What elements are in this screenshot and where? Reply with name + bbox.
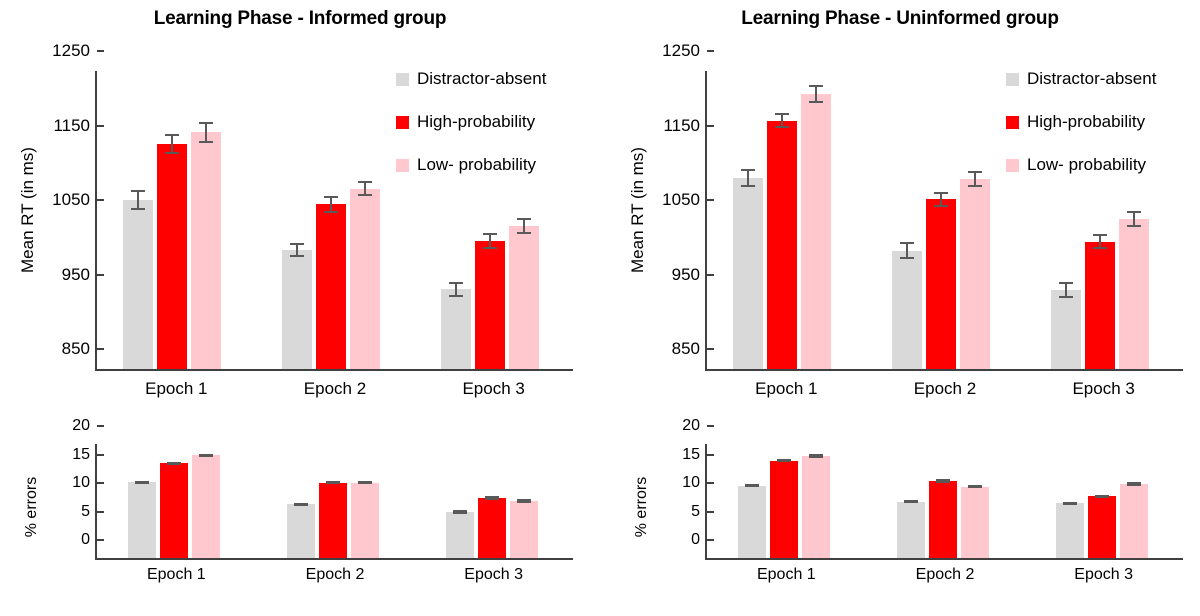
error-bar-uninformed_rt-0-2 bbox=[801, 85, 831, 103]
error-bar-cap-bottom bbox=[1095, 496, 1109, 498]
legend-swatch-icon bbox=[1006, 116, 1019, 129]
error-bar-informed_err-2-2 bbox=[510, 499, 538, 502]
bar-informed_rt-2-1 bbox=[475, 241, 505, 369]
x-tick-label-informed_err-1: Epoch 2 bbox=[306, 558, 365, 584]
error-bar-cap-bottom bbox=[900, 257, 914, 259]
y-tick-label: 1250 bbox=[662, 41, 707, 61]
y-tick-uninformed_rt-4: 1250 bbox=[662, 41, 707, 61]
error-bar-cap-top bbox=[517, 218, 531, 220]
legend-label: High-probability bbox=[1027, 112, 1145, 132]
error-bar-cap-bottom bbox=[358, 194, 372, 196]
y-tick-mark bbox=[97, 348, 104, 350]
error-bar-uninformed_err-2-2 bbox=[1120, 482, 1148, 485]
plot-area-informed-errors: 05101520Epoch 1Epoch 2Epoch 3 bbox=[95, 444, 573, 560]
legend-swatch-icon bbox=[396, 73, 409, 86]
bar-uninformed_rt-2-0 bbox=[1051, 290, 1081, 369]
y-axis-label-uninformed-rt: Mean RT (in ms) bbox=[628, 130, 648, 290]
error-bar-cap-top bbox=[324, 196, 338, 198]
y-tick-mark bbox=[97, 274, 104, 276]
error-bar-uninformed_err-0-2 bbox=[802, 454, 830, 457]
legend-item-1[interactable]: High-probability bbox=[396, 112, 546, 132]
error-bar-cap-bottom bbox=[290, 255, 304, 257]
error-bar-cap-bottom bbox=[165, 152, 179, 154]
error-bar-cap-bottom bbox=[326, 482, 340, 484]
x-tick-label-informed_err-0: Epoch 1 bbox=[147, 558, 206, 584]
y-tick-uninformed_rt-0: 850 bbox=[672, 339, 707, 359]
y-tick-label: 1050 bbox=[52, 190, 97, 210]
y-tick-mark bbox=[707, 454, 714, 456]
bar-uninformed_err-2-2 bbox=[1120, 484, 1148, 558]
y-tick-label: 1250 bbox=[52, 41, 97, 61]
legend-label: High-probability bbox=[417, 112, 535, 132]
bar-uninformed_rt-0-0 bbox=[733, 178, 763, 369]
y-tick-mark bbox=[97, 50, 104, 52]
x-tick-label-informed_rt-0: Epoch 1 bbox=[145, 369, 207, 399]
y-tick-label: 950 bbox=[672, 265, 707, 285]
x-tick-label-uninformed_rt-1: Epoch 2 bbox=[914, 369, 976, 399]
legend-swatch-icon bbox=[396, 116, 409, 129]
error-bar-cap-top bbox=[900, 242, 914, 244]
y-tick-label: 20 bbox=[682, 417, 707, 435]
error-bar-cap-bottom bbox=[517, 232, 531, 234]
error-bar-uninformed_rt-1-2 bbox=[960, 171, 990, 187]
panel-informed-errors: % errors 05101520Epoch 1Epoch 2Epoch 3 bbox=[0, 420, 600, 616]
bar-uninformed_err-0-0 bbox=[738, 486, 766, 558]
x-tick-label-informed_rt-1: Epoch 2 bbox=[304, 369, 366, 399]
bar-informed_err-0-0 bbox=[128, 482, 156, 558]
y-axis-label-informed-rt: Mean RT (in ms) bbox=[18, 130, 38, 290]
error-bar-cap-bottom bbox=[741, 185, 755, 187]
panel-uninformed-errors: % errors 05101520Epoch 1Epoch 2Epoch 3 bbox=[600, 420, 1200, 616]
bar-informed_rt-1-0 bbox=[282, 250, 312, 369]
error-bar-cap-bottom bbox=[775, 126, 789, 128]
y-tick-label: 10 bbox=[72, 474, 97, 492]
error-bar-cap-top bbox=[483, 233, 497, 235]
error-bar-cap-bottom bbox=[453, 512, 467, 514]
bar-informed_err-2-0 bbox=[446, 512, 474, 558]
figure-canvas: Learning Phase - Informed group Mean RT … bbox=[0, 0, 1200, 616]
y-tick-mark bbox=[707, 199, 714, 201]
bar-uninformed_rt-1-2 bbox=[960, 179, 990, 369]
error-bar-informed_err-0-2 bbox=[192, 454, 220, 457]
error-bar-informed_err-1-1 bbox=[319, 481, 347, 484]
y-tick-mark bbox=[97, 454, 104, 456]
y-tick-mark bbox=[707, 348, 714, 350]
error-bar-uninformed_rt-1-0 bbox=[892, 242, 922, 258]
y-tick-uninformed_rt-2: 1050 bbox=[662, 190, 707, 210]
y-tick-mark bbox=[707, 125, 714, 127]
error-bar-informed_rt-2-0 bbox=[441, 282, 471, 297]
x-tick-label-uninformed_err-0: Epoch 1 bbox=[757, 558, 816, 584]
error-bar-uninformed_err-1-1 bbox=[929, 479, 957, 482]
error-bar-uninformed_err-0-0 bbox=[738, 484, 766, 487]
legend-swatch-icon bbox=[396, 159, 409, 172]
error-bar-informed_rt-0-0 bbox=[123, 190, 153, 209]
error-bar-uninformed_rt-2-2 bbox=[1119, 211, 1149, 227]
bar-informed_err-0-2 bbox=[192, 455, 220, 558]
error-bar-informed_err-1-2 bbox=[351, 481, 379, 484]
legend-item-2[interactable]: Low- probability bbox=[1006, 155, 1156, 175]
error-bar-cap-bottom bbox=[1093, 247, 1107, 249]
legend-label: Distractor-absent bbox=[417, 69, 546, 89]
y-tick-label: 5 bbox=[81, 503, 97, 521]
error-bar-informed_err-1-0 bbox=[287, 503, 315, 506]
error-bar-informed_rt-0-2 bbox=[191, 122, 221, 143]
error-bar-cap-top bbox=[968, 171, 982, 173]
y-tick-informed_rt-1: 950 bbox=[62, 265, 97, 285]
error-bar-line bbox=[205, 122, 207, 143]
y-tick-uninformed_rt-1: 950 bbox=[672, 265, 707, 285]
bar-informed_rt-0-2 bbox=[191, 132, 221, 369]
panel-title-informed-rt: Learning Phase - Informed group bbox=[0, 8, 600, 30]
legend-informed-rt: Distractor-absentHigh-probabilityLow- pr… bbox=[396, 69, 546, 198]
error-bar-cap-bottom bbox=[167, 463, 181, 465]
y-tick-mark bbox=[97, 425, 104, 427]
y-tick-mark bbox=[97, 482, 104, 484]
y-tick-informed_err-1: 5 bbox=[81, 503, 97, 521]
bar-informed_rt-1-1 bbox=[316, 204, 346, 369]
error-bar-cap-bottom bbox=[936, 481, 950, 483]
legend-item-1[interactable]: High-probability bbox=[1006, 112, 1156, 132]
x-tick-label-uninformed_rt-2: Epoch 3 bbox=[1072, 369, 1134, 399]
error-bar-uninformed_err-1-2 bbox=[961, 485, 989, 488]
error-bar-uninformed_err-2-1 bbox=[1088, 495, 1116, 498]
error-bar-cap-bottom bbox=[745, 485, 759, 487]
y-tick-informed_rt-3: 1150 bbox=[53, 116, 97, 136]
y-axis-label-uninformed-errors: % errors bbox=[633, 447, 651, 567]
bar-uninformed_err-2-0 bbox=[1056, 503, 1084, 558]
error-bar-cap-top bbox=[290, 243, 304, 245]
y-tick-uninformed_err-0: 0 bbox=[691, 531, 707, 549]
error-bar-cap-bottom bbox=[1127, 484, 1141, 486]
error-bar-uninformed_rt-0-0 bbox=[733, 169, 763, 187]
legend-swatch-icon bbox=[1006, 159, 1019, 172]
error-bar-uninformed_rt-2-0 bbox=[1051, 282, 1081, 298]
error-bar-informed_err-2-0 bbox=[446, 510, 474, 513]
error-bar-cap-top bbox=[449, 282, 463, 284]
bar-informed_err-1-2 bbox=[351, 483, 379, 558]
error-bar-cap-bottom bbox=[294, 504, 308, 506]
y-tick-informed_err-0: 0 bbox=[81, 531, 97, 549]
bar-uninformed_rt-1-0 bbox=[892, 251, 922, 369]
error-bar-cap-top bbox=[809, 85, 823, 87]
panel-informed-rt: Learning Phase - Informed group Mean RT … bbox=[0, 0, 600, 420]
y-tick-uninformed_err-2: 10 bbox=[682, 474, 707, 492]
y-tick-label: 10 bbox=[682, 474, 707, 492]
bar-informed_rt-2-2 bbox=[509, 226, 539, 369]
y-tick-label: 950 bbox=[62, 265, 97, 285]
error-bar-informed_rt-2-2 bbox=[509, 218, 539, 234]
y-axis-label-informed-errors: % errors bbox=[23, 447, 41, 567]
bar-informed_err-0-1 bbox=[160, 463, 188, 558]
bar-uninformed_rt-2-1 bbox=[1085, 242, 1115, 369]
error-bar-uninformed_rt-1-1 bbox=[926, 192, 956, 207]
panel-uninformed-rt: Learning Phase - Uninformed group Mean R… bbox=[600, 0, 1200, 420]
error-bar-cap-bottom bbox=[968, 486, 982, 488]
error-bar-cap-bottom bbox=[777, 460, 791, 462]
bar-uninformed_err-1-0 bbox=[897, 502, 925, 558]
error-bar-cap-top bbox=[1127, 211, 1141, 213]
error-bar-cap-bottom bbox=[517, 501, 531, 503]
y-tick-informed_err-3: 15 bbox=[72, 446, 97, 464]
error-bar-informed_err-0-0 bbox=[128, 481, 156, 484]
y-tick-label: 20 bbox=[72, 417, 97, 435]
error-bar-informed_rt-0-1 bbox=[157, 134, 187, 153]
y-tick-mark bbox=[97, 539, 104, 541]
y-tick-label: 0 bbox=[81, 531, 97, 549]
error-bar-informed_rt-2-1 bbox=[475, 233, 505, 249]
x-tick-label-informed_rt-2: Epoch 3 bbox=[462, 369, 524, 399]
y-tick-informed_rt-4: 1250 bbox=[52, 41, 97, 61]
error-bar-cap-bottom bbox=[449, 295, 463, 297]
y-tick-label: 1150 bbox=[53, 116, 97, 136]
error-bar-cap-top bbox=[775, 113, 789, 115]
panel-title-uninformed-rt: Learning Phase - Uninformed group bbox=[600, 8, 1200, 30]
error-bar-cap-bottom bbox=[1063, 503, 1077, 505]
y-tick-mark bbox=[707, 482, 714, 484]
legend-item-2[interactable]: Low- probability bbox=[396, 155, 546, 175]
bar-uninformed_err-1-1 bbox=[929, 481, 957, 558]
y-tick-informed_rt-0: 850 bbox=[62, 339, 97, 359]
bar-informed_rt-0-1 bbox=[157, 144, 187, 369]
error-bar-cap-bottom bbox=[485, 498, 499, 500]
legend-label: Low- probability bbox=[417, 155, 536, 175]
error-bar-cap-top bbox=[1093, 234, 1107, 236]
y-tick-label: 850 bbox=[62, 339, 97, 359]
legend-label: Distractor-absent bbox=[1027, 69, 1156, 89]
y-tick-label: 0 bbox=[691, 531, 707, 549]
y-tick-label: 15 bbox=[72, 446, 97, 464]
error-bar-uninformed_err-0-1 bbox=[770, 459, 798, 462]
y-tick-label: 15 bbox=[682, 446, 707, 464]
error-bar-cap-bottom bbox=[968, 185, 982, 187]
legend-label: Low- probability bbox=[1027, 155, 1146, 175]
error-bar-informed_rt-1-2 bbox=[350, 181, 380, 196]
y-tick-uninformed_err-3: 15 bbox=[682, 446, 707, 464]
legend-uninformed-rt: Distractor-absentHigh-probabilityLow- pr… bbox=[1006, 69, 1156, 198]
y-tick-label: 1050 bbox=[662, 190, 707, 210]
x-tick-label-informed_err-2: Epoch 3 bbox=[464, 558, 523, 584]
error-bar-cap-bottom bbox=[358, 482, 372, 484]
y-tick-mark bbox=[97, 511, 104, 513]
legend-swatch-icon bbox=[1006, 73, 1019, 86]
bar-uninformed_err-0-2 bbox=[802, 456, 830, 558]
y-tick-uninformed_err-1: 5 bbox=[691, 503, 707, 521]
error-bar-cap-bottom bbox=[809, 101, 823, 103]
bar-uninformed_rt-0-2 bbox=[801, 94, 831, 369]
y-tick-mark bbox=[707, 511, 714, 513]
error-bar-cap-top bbox=[199, 122, 213, 124]
error-bar-uninformed_rt-2-1 bbox=[1085, 234, 1115, 249]
y-tick-informed_rt-2: 1050 bbox=[52, 190, 97, 210]
y-tick-uninformed_rt-3: 1150 bbox=[663, 116, 707, 136]
bar-uninformed_err-0-1 bbox=[770, 461, 798, 558]
bar-informed_rt-1-2 bbox=[350, 189, 380, 369]
error-bar-cap-top bbox=[934, 192, 948, 194]
legend-item-0[interactable]: Distractor-absent bbox=[396, 69, 546, 89]
error-bar-uninformed_rt-0-1 bbox=[767, 113, 797, 128]
error-bar-cap-bottom bbox=[904, 501, 918, 503]
error-bar-cap-top bbox=[165, 134, 179, 136]
y-tick-mark bbox=[97, 125, 104, 127]
y-tick-mark bbox=[97, 199, 104, 201]
legend-item-0[interactable]: Distractor-absent bbox=[1006, 69, 1156, 89]
x-tick-label-uninformed_rt-0: Epoch 1 bbox=[755, 369, 817, 399]
error-bar-cap-bottom bbox=[199, 141, 213, 143]
y-tick-label: 850 bbox=[672, 339, 707, 359]
error-bar-cap-bottom bbox=[934, 205, 948, 207]
error-bar-uninformed_err-2-0 bbox=[1056, 502, 1084, 505]
error-bar-cap-bottom bbox=[199, 455, 213, 457]
y-tick-uninformed_err-4: 20 bbox=[682, 417, 707, 435]
bar-uninformed_err-2-1 bbox=[1088, 496, 1116, 558]
error-bar-informed_err-0-1 bbox=[160, 462, 188, 465]
bar-informed_err-1-0 bbox=[287, 504, 315, 558]
plot-area-uninformed-errors: 05101520Epoch 1Epoch 2Epoch 3 bbox=[705, 444, 1183, 560]
error-bar-cap-bottom bbox=[324, 211, 338, 213]
y-tick-mark bbox=[707, 539, 714, 541]
error-bar-uninformed_err-1-0 bbox=[897, 500, 925, 503]
bar-uninformed_rt-1-1 bbox=[926, 199, 956, 369]
error-bar-cap-top bbox=[1059, 282, 1073, 284]
error-bar-cap-top bbox=[741, 169, 755, 171]
bar-uninformed_rt-2-2 bbox=[1119, 219, 1149, 369]
y-tick-mark bbox=[707, 425, 714, 427]
x-tick-label-uninformed_err-1: Epoch 2 bbox=[916, 558, 975, 584]
bar-uninformed_err-1-2 bbox=[961, 487, 989, 558]
y-tick-mark bbox=[707, 50, 714, 52]
y-tick-label: 5 bbox=[691, 503, 707, 521]
error-bar-cap-bottom bbox=[131, 208, 145, 210]
bar-uninformed_rt-0-1 bbox=[767, 121, 797, 369]
error-bar-informed_rt-1-1 bbox=[316, 196, 346, 212]
bar-informed_err-2-1 bbox=[478, 498, 506, 558]
bar-informed_rt-0-0 bbox=[123, 200, 153, 369]
y-tick-informed_err-4: 20 bbox=[72, 417, 97, 435]
y-tick-label: 1150 bbox=[663, 116, 707, 136]
error-bar-cap-top bbox=[131, 190, 145, 192]
error-bar-cap-bottom bbox=[483, 247, 497, 249]
error-bar-cap-bottom bbox=[809, 456, 823, 458]
error-bar-informed_err-2-1 bbox=[478, 496, 506, 499]
error-bar-informed_rt-1-0 bbox=[282, 243, 312, 256]
y-tick-informed_err-2: 10 bbox=[72, 474, 97, 492]
x-tick-label-uninformed_err-2: Epoch 3 bbox=[1074, 558, 1133, 584]
y-tick-mark bbox=[707, 274, 714, 276]
error-bar-cap-bottom bbox=[1127, 225, 1141, 227]
bar-informed_rt-2-0 bbox=[441, 289, 471, 369]
error-bar-cap-top bbox=[358, 181, 372, 183]
error-bar-cap-bottom bbox=[1059, 296, 1073, 298]
bar-informed_err-2-2 bbox=[510, 501, 538, 558]
bar-informed_err-1-1 bbox=[319, 483, 347, 558]
error-bar-cap-bottom bbox=[135, 482, 149, 484]
